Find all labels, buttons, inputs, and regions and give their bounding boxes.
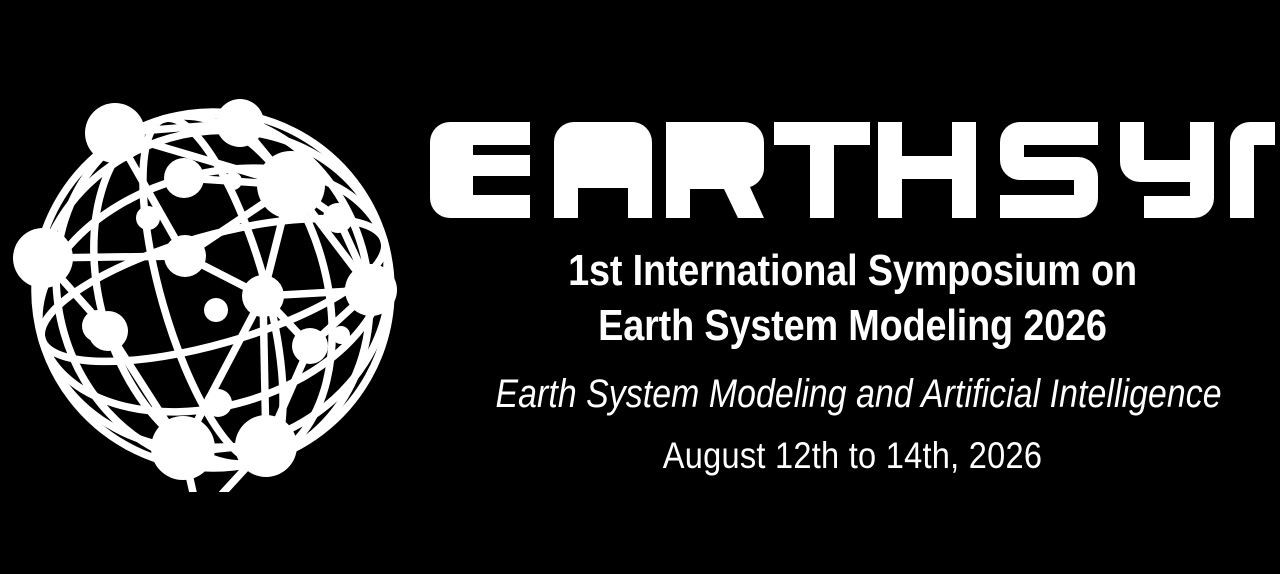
subtitle-line-2: Earth System Modeling 2026 — [489, 301, 1216, 351]
subtitle-line-1: 1st International Symposium on — [489, 246, 1216, 296]
globe-network-icon — [8, 78, 422, 492]
event-banner: 1st International Symposium on Earth Sys… — [0, 0, 1280, 574]
event-date: August 12th to 14th, 2026 — [481, 434, 1225, 478]
event-text-block: 1st International Symposium on Earth Sys… — [430, 104, 1275, 494]
event-title-wordmark — [430, 120, 1275, 220]
page-title — [430, 120, 1275, 220]
tagline: Earth System Modeling and Artificial Int… — [495, 371, 1209, 417]
